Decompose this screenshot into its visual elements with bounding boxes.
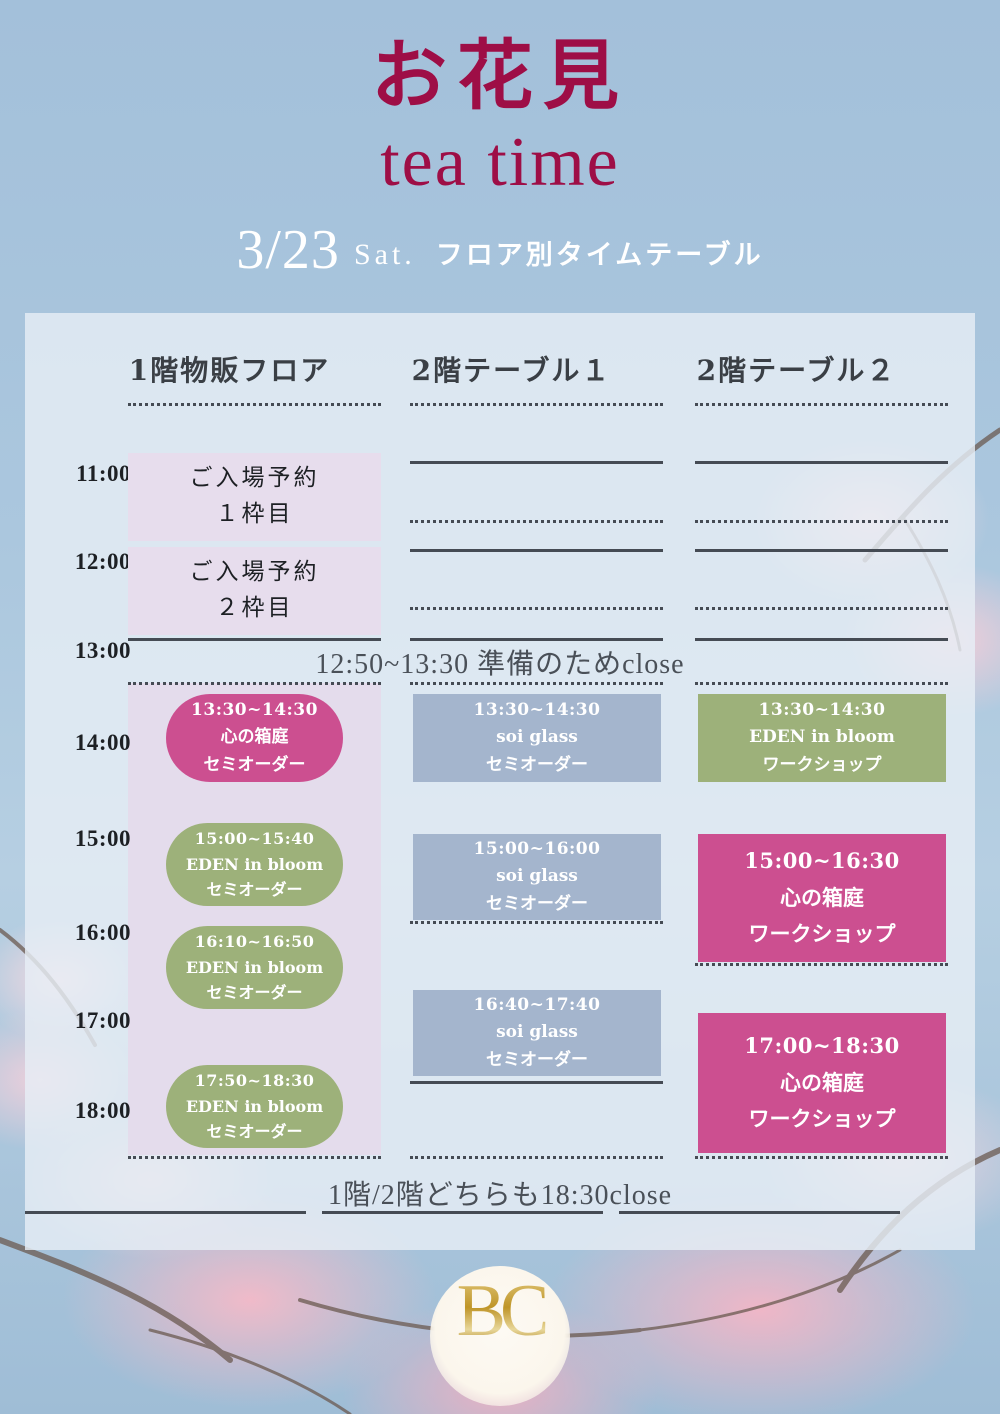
session-c1-4[interactable]: 17:50~18:30 EDEN in bloom セミオーダー <box>166 1065 343 1148</box>
session-c3-2-kind: ワークショップ <box>749 916 896 953</box>
session-c2-3-kind: セミオーダー <box>486 1047 588 1074</box>
event-day: Sat. <box>354 238 416 271</box>
session-c1-3-name: EDEN in bloom <box>186 955 323 981</box>
divider-solid-c2-1200 <box>410 549 663 552</box>
session-c3-2[interactable]: 15:00~16:30 心の箱庭 ワークショップ <box>698 834 946 962</box>
session-c1-2-time: 15:00~15:40 <box>195 826 315 852</box>
time-label-1600: 16:00 <box>45 920 131 946</box>
session-c1-4-name: EDEN in bloom <box>186 1094 323 1120</box>
session-c1-2-kind: セミオーダー <box>206 877 302 903</box>
session-c2-3[interactable]: 16:40~17:40 soi glass セミオーダー <box>413 990 661 1076</box>
divider-dotted-c3-1230 <box>695 607 948 610</box>
page-title-jp: お花見 <box>0 38 1000 114</box>
divider-dotted-c2-1830 <box>410 1156 663 1159</box>
entry-reservation-slot-2: ご入場予約 ２枠目 <box>128 547 381 635</box>
session-c3-1-name: EDEN in bloom <box>749 724 895 751</box>
time-label-1500: 15:00 <box>45 826 131 852</box>
time-label-1800: 18:00 <box>45 1098 131 1124</box>
subtitle-text: フロア別タイムテーブル <box>436 240 764 271</box>
divider-dotted-c1-1330 <box>128 682 381 685</box>
brand-logo: BC <box>420 1262 580 1414</box>
time-label-1100: 11:00 <box>45 461 131 487</box>
timetable-panel: 1階物販フロア 2階テーブル１ 2階テーブル２ 11:00 12:00 13:0… <box>25 313 975 1250</box>
session-c1-1[interactable]: 13:30~14:30 心の箱庭 セミオーダー <box>166 694 343 782</box>
session-c2-1-kind: セミオーダー <box>486 752 588 779</box>
session-c2-1[interactable]: 13:30~14:30 soi glass セミオーダー <box>413 694 661 782</box>
session-c1-1-time: 13:30~14:30 <box>191 697 318 724</box>
session-c3-2-time: 15:00~16:30 <box>744 843 900 880</box>
divider-dotted-c3-1130 <box>695 520 948 523</box>
divider-dotted-c2-head <box>410 403 663 406</box>
divider-dotted-c3-1330 <box>695 682 948 685</box>
session-c3-3-name: 心の箱庭 <box>780 1065 864 1102</box>
session-c1-3-time: 16:10~16:50 <box>195 929 315 955</box>
divider-dotted-c1-head <box>128 403 381 406</box>
notice-close-evening: 1階/2階どちらも18:30close <box>25 1173 975 1213</box>
entry-slot-1-line2: １枠目 <box>216 497 294 533</box>
session-c2-2[interactable]: 15:00~16:00 soi glass セミオーダー <box>413 834 661 920</box>
entry-slot-2-line2: ２枠目 <box>216 591 294 627</box>
divider-solid-c2-1740 <box>410 1081 663 1084</box>
session-c2-1-name: soi glass <box>496 724 578 751</box>
session-c1-3[interactable]: 16:10~16:50 EDEN in bloom セミオーダー <box>166 926 343 1009</box>
divider-dotted-c3-1630 <box>695 963 948 966</box>
divider-solid-c2-1300 <box>410 638 663 641</box>
divider-dotted-c3-1830 <box>695 1156 948 1159</box>
session-c2-2-kind: セミオーダー <box>486 891 588 918</box>
session-c1-1-name: 心の箱庭 <box>221 724 289 751</box>
session-c2-2-name: soi glass <box>496 863 578 890</box>
notice-close-midday: 12:50~13:30 準備のためclose <box>25 642 975 682</box>
entry-slot-2-line1: ご入場予約 <box>190 555 320 591</box>
divider-dotted-c3-head <box>695 403 948 406</box>
session-c1-2-name: EDEN in bloom <box>186 852 323 878</box>
divider-solid-c3-1300 <box>695 638 948 641</box>
session-c1-1-kind: セミオーダー <box>204 752 306 779</box>
divider-dotted-c1-1830 <box>128 1156 381 1159</box>
session-c1-2[interactable]: 15:00~15:40 EDEN in bloom セミオーダー <box>166 823 343 906</box>
event-date: 3/23 <box>236 219 340 281</box>
time-label-1700: 17:00 <box>45 1008 131 1034</box>
time-label-1200: 12:00 <box>45 549 131 575</box>
session-c3-3[interactable]: 17:00~18:30 心の箱庭 ワークショップ <box>698 1013 946 1153</box>
session-c3-3-kind: ワークショップ <box>749 1101 896 1138</box>
logo-monogram: BC <box>420 1274 580 1348</box>
session-c3-2-name: 心の箱庭 <box>780 880 864 917</box>
page-title-en: tea time <box>0 128 1000 198</box>
column-header-table1: 2階テーブル１ <box>385 349 638 389</box>
session-c1-4-kind: セミオーダー <box>206 1119 302 1145</box>
divider-solid-c3-1100 <box>695 461 948 464</box>
entry-slot-1-line1: ご入場予約 <box>190 461 320 497</box>
session-c3-1-kind: ワークショップ <box>763 752 882 779</box>
entry-reservation-slot-1: ご入場予約 １枠目 <box>128 453 381 541</box>
session-c2-3-time: 16:40~17:40 <box>474 992 601 1019</box>
session-c3-1[interactable]: 13:30~14:30 EDEN in bloom ワークショップ <box>698 694 946 782</box>
divider-solid-c1-1300 <box>128 638 381 641</box>
session-c2-2-time: 15:00~16:00 <box>474 836 601 863</box>
session-c1-4-time: 17:50~18:30 <box>195 1068 315 1094</box>
divider-dotted-c2-1230 <box>410 607 663 610</box>
time-label-1400: 14:00 <box>45 730 131 756</box>
session-c1-3-kind: セミオーダー <box>206 980 302 1006</box>
poster-header: お花見 tea time 3/23 Sat. フロア別タイムテーブル <box>0 0 1000 313</box>
divider-dotted-c2-1600 <box>410 921 663 924</box>
session-c2-3-name: soi glass <box>496 1019 578 1046</box>
subtitle-row: 3/23 Sat. フロア別タイムテーブル <box>0 218 1000 282</box>
session-c3-3-time: 17:00~18:30 <box>744 1028 900 1065</box>
divider-dotted-c2-1330 <box>410 682 663 685</box>
session-c3-1-time: 13:30~14:30 <box>759 697 886 724</box>
divider-dotted-c2-1130 <box>410 520 663 523</box>
column-header-table2: 2階テーブル２ <box>670 349 923 389</box>
divider-solid-c2-1100 <box>410 461 663 464</box>
divider-solid-c3-1200 <box>695 549 948 552</box>
session-c2-1-time: 13:30~14:30 <box>474 697 601 724</box>
column-header-floor1: 1階物販フロア <box>103 349 356 389</box>
